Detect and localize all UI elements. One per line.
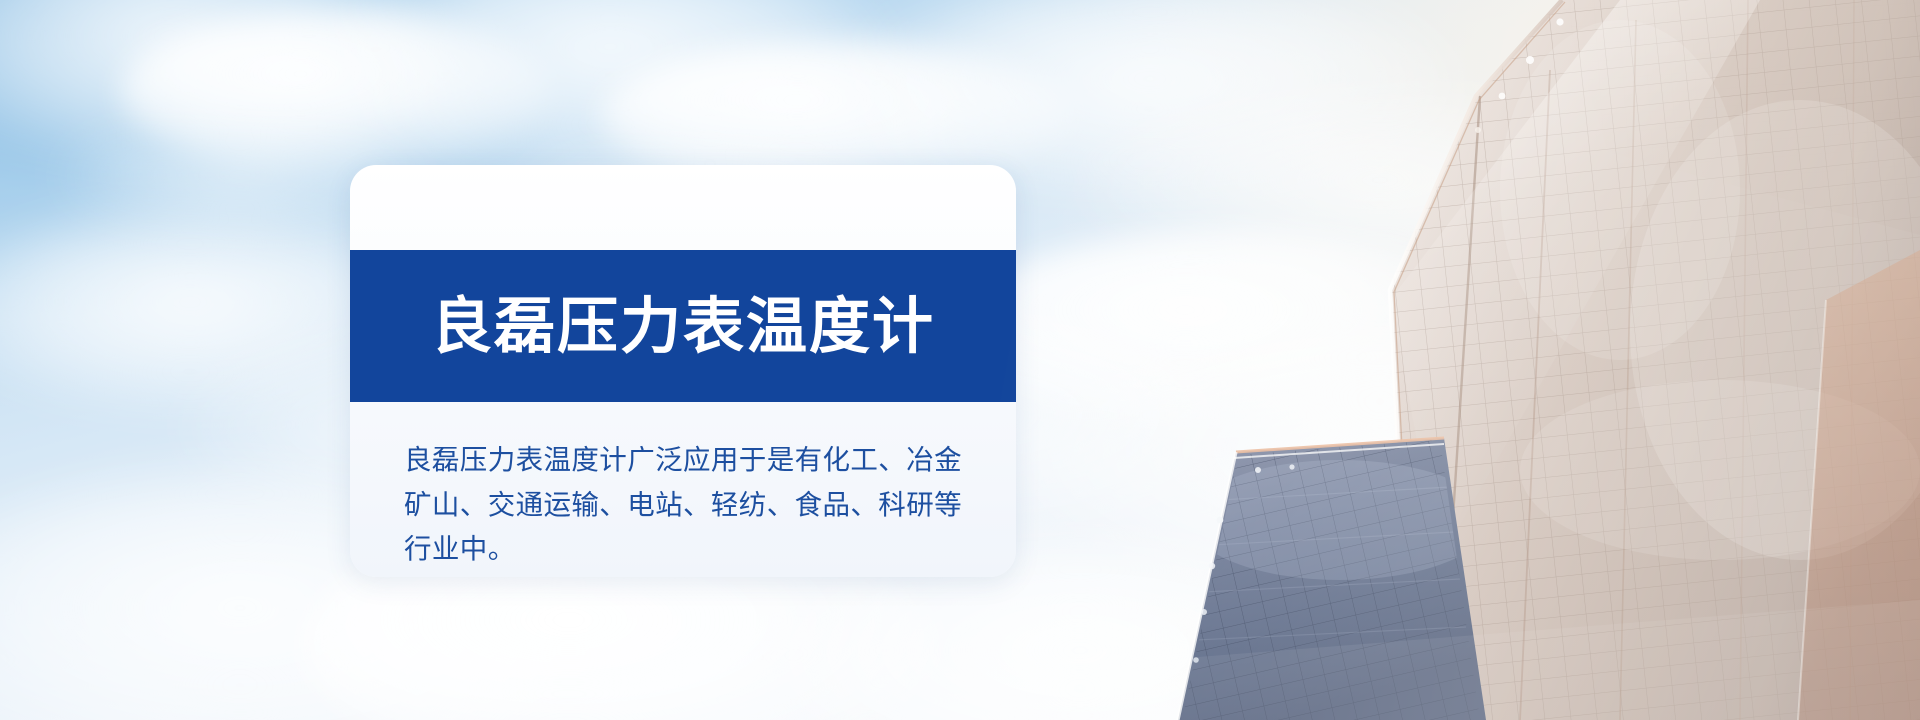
skyscraper-illustration <box>920 0 1920 720</box>
card-top-spacer <box>350 165 1016 250</box>
card-body: 良磊压力表温度计广泛应用于是有化工、冶金矿山、交通运输、电站、轻纺、食品、科研等… <box>350 402 1016 572</box>
hero-banner: 良磊压力表温度计 良磊压力表温度计广泛应用于是有化工、冶金矿山、交通运输、电站、… <box>0 0 1920 720</box>
title-bar: 良磊压力表温度计 <box>350 250 1016 402</box>
description-text: 良磊压力表温度计广泛应用于是有化工、冶金矿山、交通运输、电站、轻纺、食品、科研等… <box>404 438 962 572</box>
info-card: 良磊压力表温度计 良磊压力表温度计广泛应用于是有化工、冶金矿山、交通运输、电站、… <box>350 165 1016 577</box>
page-title: 良磊压力表温度计 <box>431 296 935 357</box>
